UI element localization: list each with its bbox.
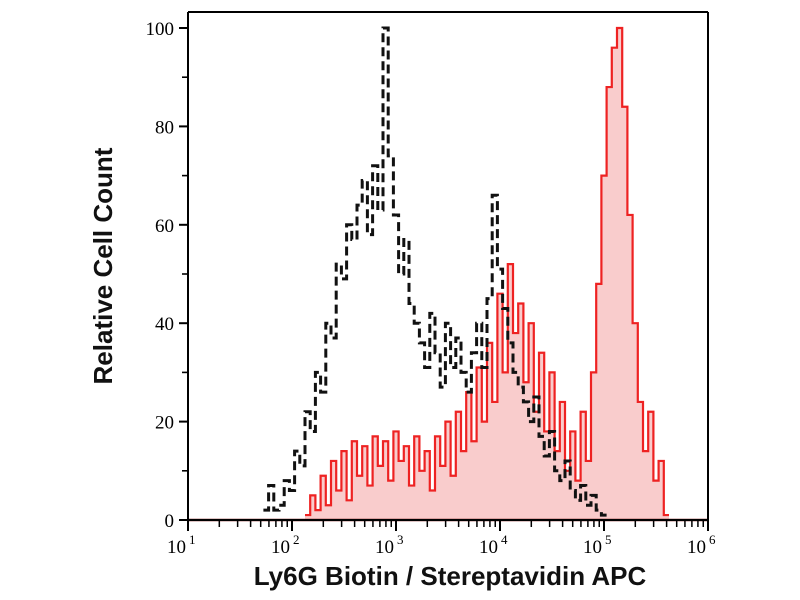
x-tick-mantissa: 10 <box>583 537 602 558</box>
x-tick-exponent: 4 <box>501 532 508 547</box>
flow-cytometry-histogram-figure: 020406080100101102103104105106 Relative … <box>0 0 800 600</box>
x-tick-mantissa: 10 <box>167 537 186 558</box>
y-tick-label: 60 <box>155 216 174 237</box>
x-tick-exponent: 1 <box>189 532 196 547</box>
y-tick-label: 0 <box>165 511 175 532</box>
x-tick-label: 106 <box>687 532 716 558</box>
plot-canvas: 020406080100101102103104105106 Relative … <box>0 0 800 600</box>
y-axis-title: Relative Cell Count <box>88 147 118 384</box>
x-tick-exponent: 2 <box>293 532 300 547</box>
y-tick-label: 20 <box>155 413 174 434</box>
x-tick-mantissa: 10 <box>687 537 706 558</box>
x-tick-exponent: 3 <box>397 532 404 547</box>
x-tick-label: 105 <box>583 532 612 558</box>
y-tick-label: 80 <box>155 117 174 138</box>
y-tick-label: 40 <box>155 314 174 335</box>
x-tick-mantissa: 10 <box>479 537 498 558</box>
x-tick-label: 104 <box>479 532 508 558</box>
x-tick-exponent: 6 <box>709 532 716 547</box>
x-tick-label: 101 <box>167 532 196 558</box>
x-tick-exponent: 5 <box>605 532 612 547</box>
y-tick-label: 100 <box>146 19 175 40</box>
x-tick-mantissa: 10 <box>375 537 394 558</box>
x-tick-label: 102 <box>271 532 300 558</box>
x-tick-mantissa: 10 <box>271 537 290 558</box>
x-axis-title: Ly6G Biotin / Stereptavidin APC <box>254 561 647 591</box>
x-tick-label: 103 <box>375 532 404 558</box>
